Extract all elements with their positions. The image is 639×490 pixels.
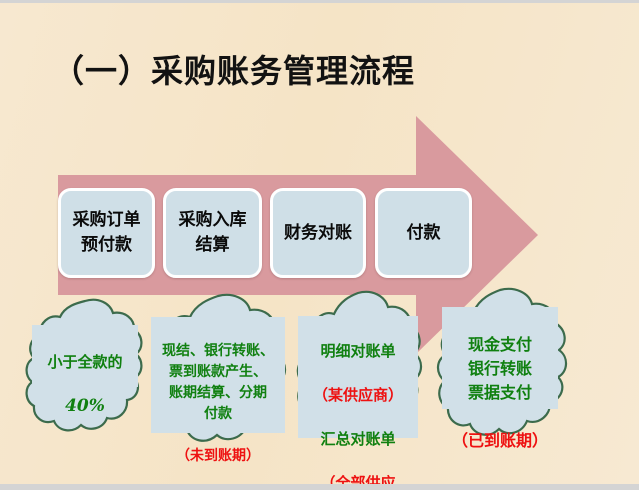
- process-step-box-4[interactable]: 付款: [375, 188, 472, 278]
- cloud-line: 小于全款的: [32, 351, 138, 373]
- cloud-callout-1-text: 小于全款的 40%: [32, 325, 138, 387]
- cloud-callout-4-text: 现金支付 银行转账 票据支付 （已到账期）: [442, 307, 558, 409]
- cloud-callout-3[interactable]: 明细对账单 （某供应商） 汇总对账单 （全部供应 商）: [292, 288, 424, 460]
- process-step-label: 付款: [407, 221, 441, 246]
- cloud-callout-2-text: 现结、银行转账、 票到账款产生、 账期结算、分期 付款 （未到账期）: [151, 317, 285, 433]
- cloud-line: （未到账期）: [151, 446, 285, 467]
- cloud-callout-2[interactable]: 现结、银行转账、 票到账款产生、 账期结算、分期 付款 （未到账期）: [142, 291, 294, 461]
- process-step-label: 采购订单 预付款: [73, 208, 141, 258]
- cloud-line: 汇总对账单: [298, 428, 418, 450]
- cloud-line: 现金支付 银行转账 票据支付: [442, 333, 558, 405]
- page-title: （一）采购账务管理流程: [52, 51, 592, 91]
- process-step-label: 财务对账: [284, 221, 352, 246]
- cloud-line: （某供应商）: [298, 384, 418, 406]
- process-step-label: 采购入库 结算: [179, 208, 247, 258]
- process-step-box-3[interactable]: 财务对账: [270, 188, 366, 278]
- cloud-line: （全部供应 商）: [298, 472, 418, 484]
- cloud-callout-1[interactable]: 小于全款的 40%: [24, 295, 146, 443]
- slide-canvas: （一）采购账务管理流程 采购订单 预付款 采购入库 结算 财务对账 付款 小于全…: [0, 3, 639, 484]
- cloud-callout-4[interactable]: 现金支付 银行转账 票据支付 （已到账期）: [428, 285, 573, 455]
- cloud-line: 明细对账单: [298, 340, 418, 362]
- process-step-box-2[interactable]: 采购入库 结算: [163, 188, 262, 278]
- cloud-line: 现结、银行转账、 票到账款产生、 账期结算、分期 付款: [151, 341, 285, 425]
- process-step-box-1[interactable]: 采购订单 预付款: [58, 188, 155, 278]
- cloud-line: 40%: [32, 395, 138, 417]
- cloud-callout-3-text: 明细对账单 （某供应商） 汇总对账单 （全部供应 商）: [298, 316, 418, 438]
- cloud-line: （已到账期）: [442, 429, 558, 453]
